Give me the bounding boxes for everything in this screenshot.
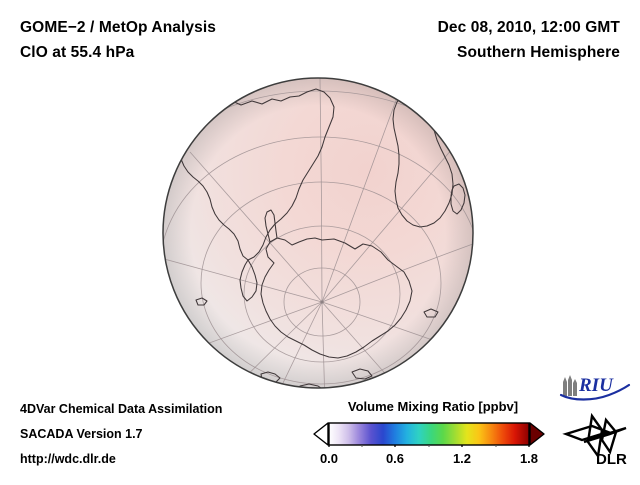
riu-tower-icon	[563, 375, 577, 396]
colorbar-extend-low	[314, 423, 328, 445]
dlr-wordmark: DLR	[596, 451, 627, 468]
riu-logo-svg: RIU	[559, 374, 633, 406]
footer-line-assimilation: 4DVar Chemical Data Assimilation	[20, 402, 222, 416]
dlr-logo: DLR	[562, 412, 634, 468]
colorbar-extend-high	[530, 423, 544, 445]
riu-wordmark: RIU	[578, 375, 614, 396]
colorbar-tick-0: 0.0	[306, 451, 352, 466]
dlr-logo-svg: DLR	[562, 412, 634, 468]
footer-line-version: SACADA Version 1.7	[20, 427, 143, 441]
colorbar	[313, 421, 545, 447]
south-pole-marker	[320, 300, 323, 303]
riu-logo: RIU	[559, 374, 633, 406]
colorbar-svg	[313, 421, 545, 447]
visualization-page: GOME−2 / MetOp Analysis ClO at 55.4 hPa …	[0, 0, 640, 480]
globe-limb-shading	[163, 78, 473, 388]
colorbar-title: Volume Mixing Ratio [ppbv]	[318, 399, 548, 414]
coastline-australia-limb	[459, 96, 468, 126]
colorbar-tick-3: 1.8	[506, 451, 552, 466]
colorbar-tick-2: 1.2	[439, 451, 485, 466]
footer-line-url: http://wdc.dlr.de	[20, 452, 116, 466]
colorbar-gradient	[329, 423, 529, 445]
dlr-mark-icon	[566, 416, 626, 456]
colorbar-tick-1: 0.6	[372, 451, 418, 466]
